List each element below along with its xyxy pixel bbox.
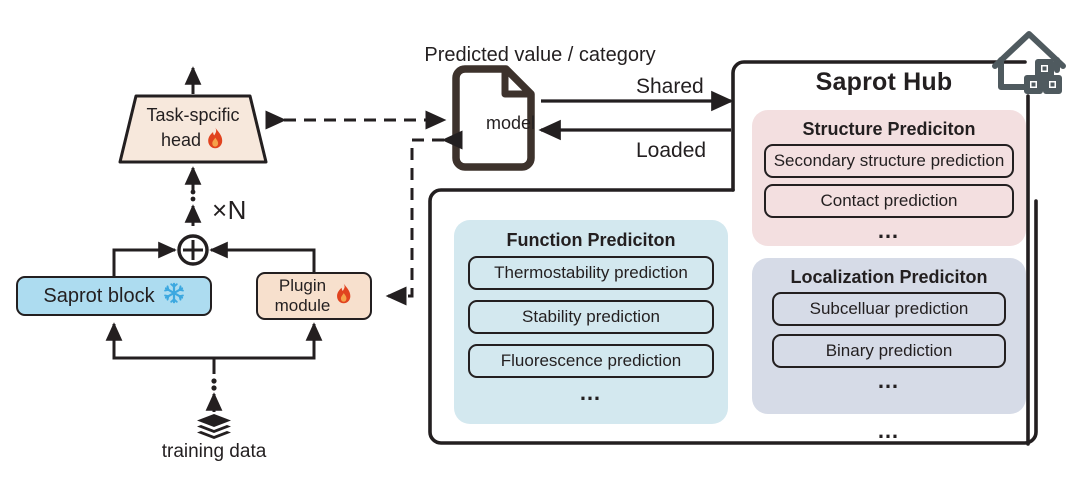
house-hub-icon — [995, 34, 1063, 91]
prediction-task-binary[interactable]: Binary prediction — [772, 334, 1006, 368]
task-head-line1: Task-spcific — [146, 105, 239, 125]
structure-ellipsis: … — [752, 218, 1026, 244]
prediction-task-secondary-structure[interactable]: Secondary structure prediction — [764, 144, 1014, 178]
layers-icon — [197, 414, 231, 439]
merge-plus-node — [179, 236, 207, 264]
path-saprot-to-merge — [114, 250, 175, 276]
prediction-task-contact[interactable]: Contact prediction — [764, 184, 1014, 218]
loaded-label: Loaded — [636, 139, 706, 163]
diagram-canvas: Predicted value / category Task-spcific … — [0, 0, 1080, 477]
predicted-output-label: Predicted value / category — [424, 44, 655, 67]
plugin-module: Plugin module — [256, 272, 372, 320]
category-panel-function: Function Prediciton Thermostability pred… — [454, 220, 728, 424]
dashed-arrow-model-plugin — [388, 140, 444, 296]
function-ellipsis: … — [454, 380, 728, 406]
prediction-task-fluorescence[interactable]: Fluorescence prediction — [468, 344, 714, 378]
plugin-module-line2: module — [275, 296, 331, 315]
arrow-merge-to-head — [191, 168, 196, 226]
category-panel-structure: Structure Prediciton Secondary structure… — [752, 110, 1026, 246]
hub-title: Saprot Hub — [816, 68, 953, 97]
saprot-block: Saprot block — [16, 276, 212, 316]
hub-more-ellipsis: … — [752, 418, 1026, 444]
shared-label: Shared — [636, 75, 704, 99]
plugin-module-line1: Plugin — [279, 276, 326, 295]
localization-ellipsis: … — [752, 368, 1026, 394]
training-data-label: training data — [162, 441, 267, 463]
prediction-task-stability[interactable]: Stability prediction — [468, 300, 714, 334]
path-plugin-to-merge — [211, 250, 314, 272]
category-title-function: Function Prediciton — [454, 230, 728, 251]
fire-icon — [334, 283, 353, 309]
task-specific-head: Task-spcific head — [120, 96, 266, 162]
prediction-task-subcellular[interactable]: Subcelluar prediction — [772, 292, 1006, 326]
fire-icon — [205, 127, 225, 155]
task-specific-head-label: Task-spcific head — [120, 104, 266, 154]
category-panel-localization: Localization Prediciton Subcelluar predi… — [752, 258, 1026, 414]
saprot-block-label: Saprot block — [43, 285, 154, 308]
model-label: model — [486, 113, 535, 134]
category-title-localization: Localization Prediciton — [752, 267, 1026, 288]
path-trainingdata-to-blocks — [114, 324, 314, 412]
snowflake-icon — [163, 282, 185, 310]
prediction-task-thermostability[interactable]: Thermostability prediction — [468, 256, 714, 290]
category-title-structure: Structure Prediciton — [752, 119, 1026, 140]
task-head-line2: head — [161, 130, 201, 150]
repeat-count-label: ×N — [212, 196, 247, 226]
